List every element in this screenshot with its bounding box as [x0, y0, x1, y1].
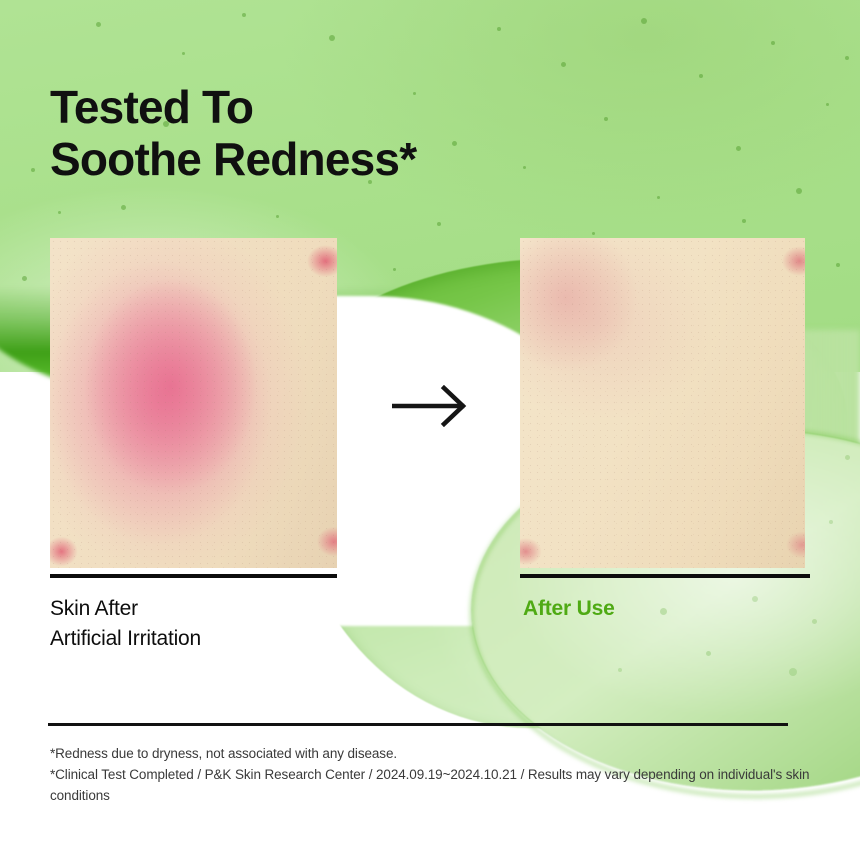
before-divider-rule [50, 574, 337, 578]
after-divider-rule [520, 574, 810, 578]
after-skin-texture [520, 238, 805, 568]
before-photo [50, 238, 337, 568]
before-caption: Skin After Artificial Irritation [50, 594, 201, 654]
footnote-line-2: *Clinical Test Completed / P&K Skin Rese… [50, 764, 810, 806]
before-skin-texture [50, 238, 337, 568]
right-arrow-icon [392, 385, 470, 427]
after-caption: After Use [523, 594, 615, 624]
footnote-divider-rule [48, 723, 788, 726]
footnote-block: *Redness due to dryness, not associated … [50, 743, 810, 806]
footnote-line-1: *Redness due to dryness, not associated … [50, 743, 810, 764]
page-title: Tested To Soothe Redness* [50, 81, 416, 185]
after-photo [520, 238, 805, 568]
promo-banner: Tested To Soothe Redness* Skin After Art… [0, 0, 860, 860]
